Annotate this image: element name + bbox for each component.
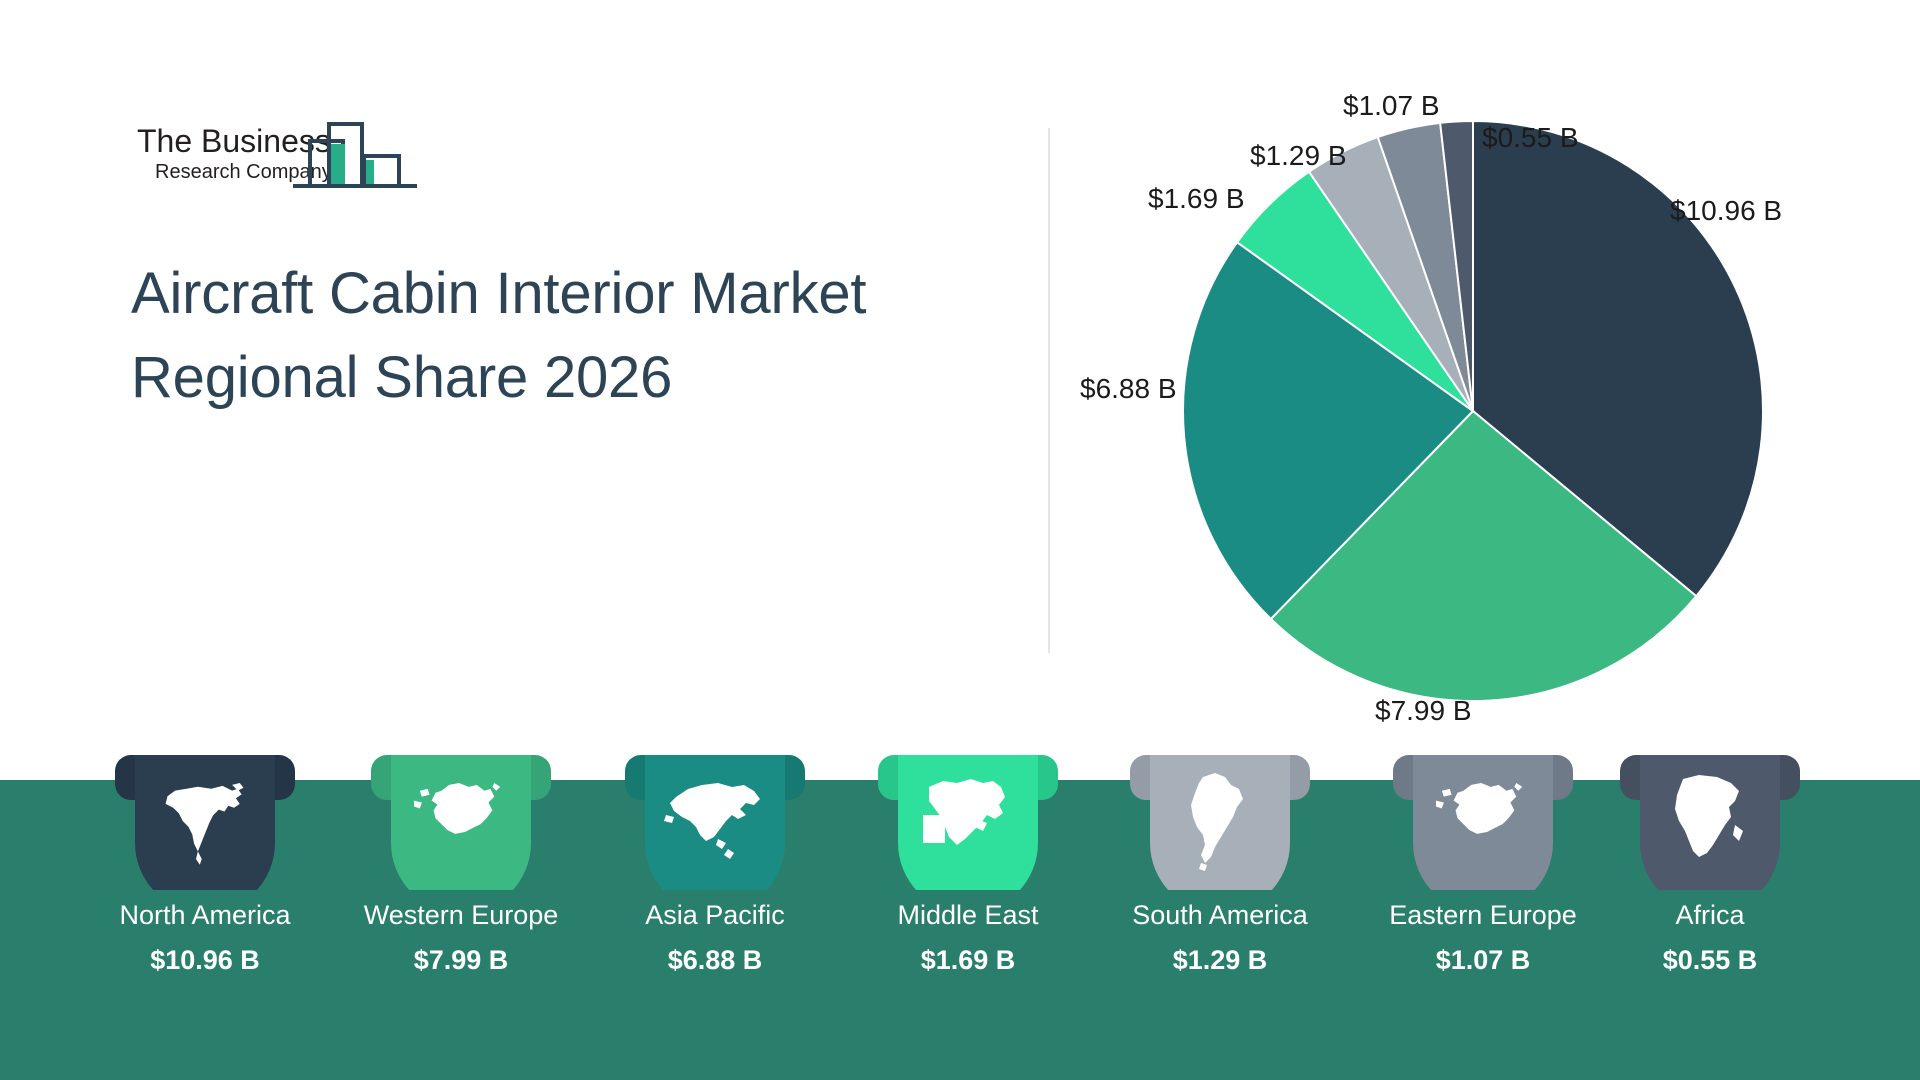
legend-value: $7.99 B: [414, 945, 509, 976]
legend-item-eastern-europe[interactable]: Eastern Europe $1.07 B: [1388, 755, 1578, 890]
africa-badge: [1615, 755, 1805, 890]
legend-item-asia-pacific[interactable]: Asia Pacific $6.88 B: [620, 755, 810, 890]
pie-label-south-america: $1.29 B: [1250, 140, 1347, 172]
pie-label-eastern-europe: $1.07 B: [1343, 90, 1440, 122]
pie-label-middle-east: $1.69 B: [1148, 183, 1245, 215]
legend-label: Middle East: [897, 900, 1038, 931]
legend-label: South America: [1132, 900, 1308, 931]
logo-line2: Research Company: [155, 161, 332, 183]
pie-label-asia-pacific: $6.88 B: [1080, 373, 1177, 405]
legend-label: Western Europe: [364, 900, 559, 931]
western-europe-badge: [366, 755, 556, 890]
middle-east-badge: [873, 755, 1063, 890]
company-logo: The Business Research Company: [133, 100, 423, 195]
legend-item-middle-east[interactable]: Middle East $1.69 B: [873, 755, 1063, 890]
legend-item-north-america[interactable]: North America $10.96 B: [110, 755, 300, 890]
legend-value: $1.07 B: [1436, 945, 1531, 976]
legend-label: Eastern Europe: [1389, 900, 1577, 931]
legend-value: $6.88 B: [668, 945, 763, 976]
vertical-divider: [1048, 128, 1050, 653]
legend-value: $0.55 B: [1663, 945, 1758, 976]
legend-value: $10.96 B: [150, 945, 260, 976]
pie-label-north-america: $10.96 B: [1670, 195, 1782, 227]
legend-item-western-europe[interactable]: Western Europe $7.99 B: [366, 755, 556, 890]
eastern-europe-badge: [1388, 755, 1578, 890]
bar-chart-logo-icon: The Business Research Company: [133, 100, 423, 195]
infographic-canvas: The Business Research Company Aircraft C…: [0, 0, 1920, 1080]
pie-label-western-europe: $7.99 B: [1375, 695, 1472, 727]
legend-label: North America: [119, 900, 290, 931]
legend-label: Africa: [1675, 900, 1744, 931]
pie-chart: $10.96 B $7.99 B $6.88 B $1.69 B $1.29 B…: [1060, 40, 1900, 740]
legend-value: $1.69 B: [921, 945, 1016, 976]
legend-label: Asia Pacific: [645, 900, 785, 931]
legend-item-south-america[interactable]: South America $1.29 B: [1125, 755, 1315, 890]
pie-label-africa: $0.55 B: [1482, 122, 1579, 154]
page-title: Aircraft Cabin Interior Market Regional …: [131, 252, 921, 420]
asia-pacific-badge: [620, 755, 810, 890]
pie-chart-svg: [1060, 40, 1900, 740]
south-america-badge: [1125, 755, 1315, 890]
legend-value: $1.29 B: [1173, 945, 1268, 976]
legend-item-africa[interactable]: Africa $0.55 B: [1615, 755, 1805, 890]
north-america-badge: [110, 755, 300, 890]
logo-line1: The Business: [137, 123, 331, 159]
